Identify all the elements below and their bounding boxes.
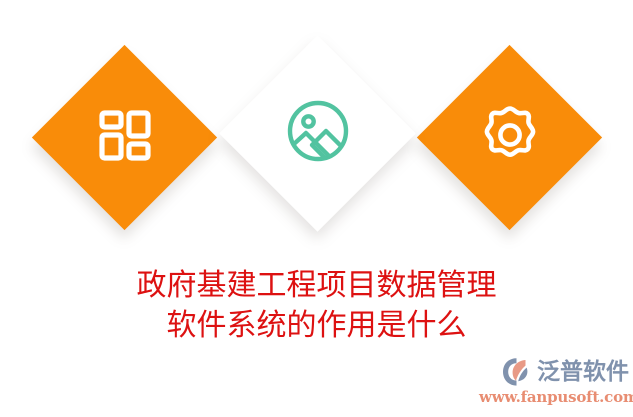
brand-url[interactable]: www.fanpusoft.com (479, 388, 629, 407)
banner-root: 政府基建工程项目数据管理 软件系统的作用是什么 泛普软件 www.fanpuso… (0, 0, 633, 417)
diamond-icon-row (0, 0, 633, 270)
diamond-image-icon-holder (248, 64, 387, 203)
image-photo-icon (282, 95, 354, 172)
diamond-dashboard-icon-holder (59, 72, 190, 203)
diamond-card-dashboard[interactable] (32, 45, 217, 230)
diamond-card-gear[interactable] (417, 45, 602, 230)
headline-line-2: 软件系统的作用是什么 (0, 306, 633, 346)
headline-title: 政府基建工程项目数据管理 软件系统的作用是什么 (0, 266, 633, 346)
fanpu-swoosh-logo-icon (502, 357, 534, 387)
brand-wordmark: 泛普软件 (537, 359, 629, 385)
diamond-card-image[interactable] (219, 35, 416, 232)
diamond-gear-icon-holder (444, 72, 575, 203)
brand-logo-top-row: 泛普软件 (479, 356, 629, 388)
brand-logo[interactable]: 泛普软件 www.fanpusoft.com (479, 356, 629, 412)
dashboard-grid-icon (94, 104, 156, 171)
gear-settings-icon (478, 103, 542, 172)
headline-line-1: 政府基建工程项目数据管理 (0, 266, 633, 306)
